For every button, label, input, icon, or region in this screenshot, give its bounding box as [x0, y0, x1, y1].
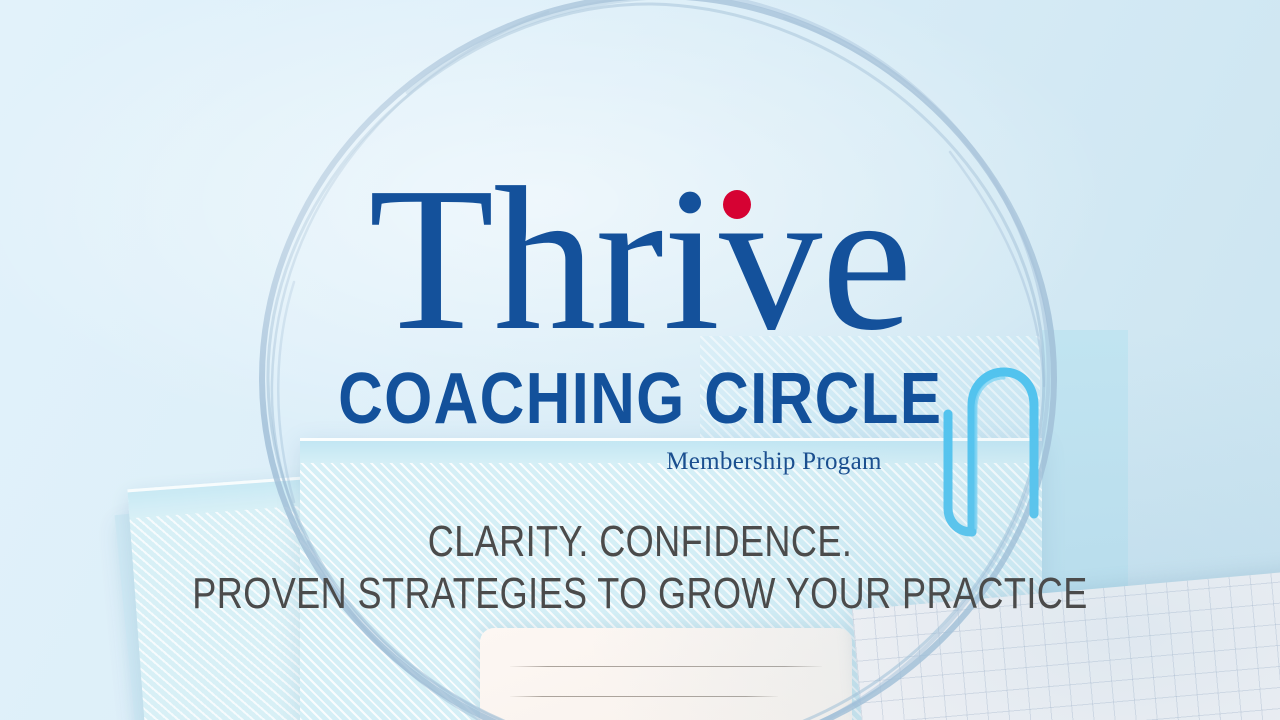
- program-line: Membership Progam: [0, 448, 1280, 476]
- brand-wordmark: Thrive: [368, 168, 911, 349]
- poster-canvas: Thrive COACHING CIRCLE Membership Progam…: [0, 0, 1280, 720]
- content-layer: Thrive COACHING CIRCLE Membership Progam…: [0, 0, 1280, 720]
- wordmark-wrap: Thrive: [0, 168, 1280, 349]
- tagline-line-2: PROVEN STRATEGIES TO GROW YOUR PRACTICE: [115, 568, 1165, 620]
- brand-program-label: Membership Progam: [666, 448, 882, 476]
- tagline-block: CLARITY. CONFIDENCE. PROVEN STRATEGIES T…: [0, 516, 1280, 620]
- brand-subtitle: COACHING CIRCLE: [338, 363, 942, 435]
- subtitle-line: COACHING CIRCLE: [0, 363, 1280, 435]
- wordmark-text: Thrive: [368, 144, 911, 373]
- tagline-line-1: CLARITY. CONFIDENCE.: [115, 516, 1165, 568]
